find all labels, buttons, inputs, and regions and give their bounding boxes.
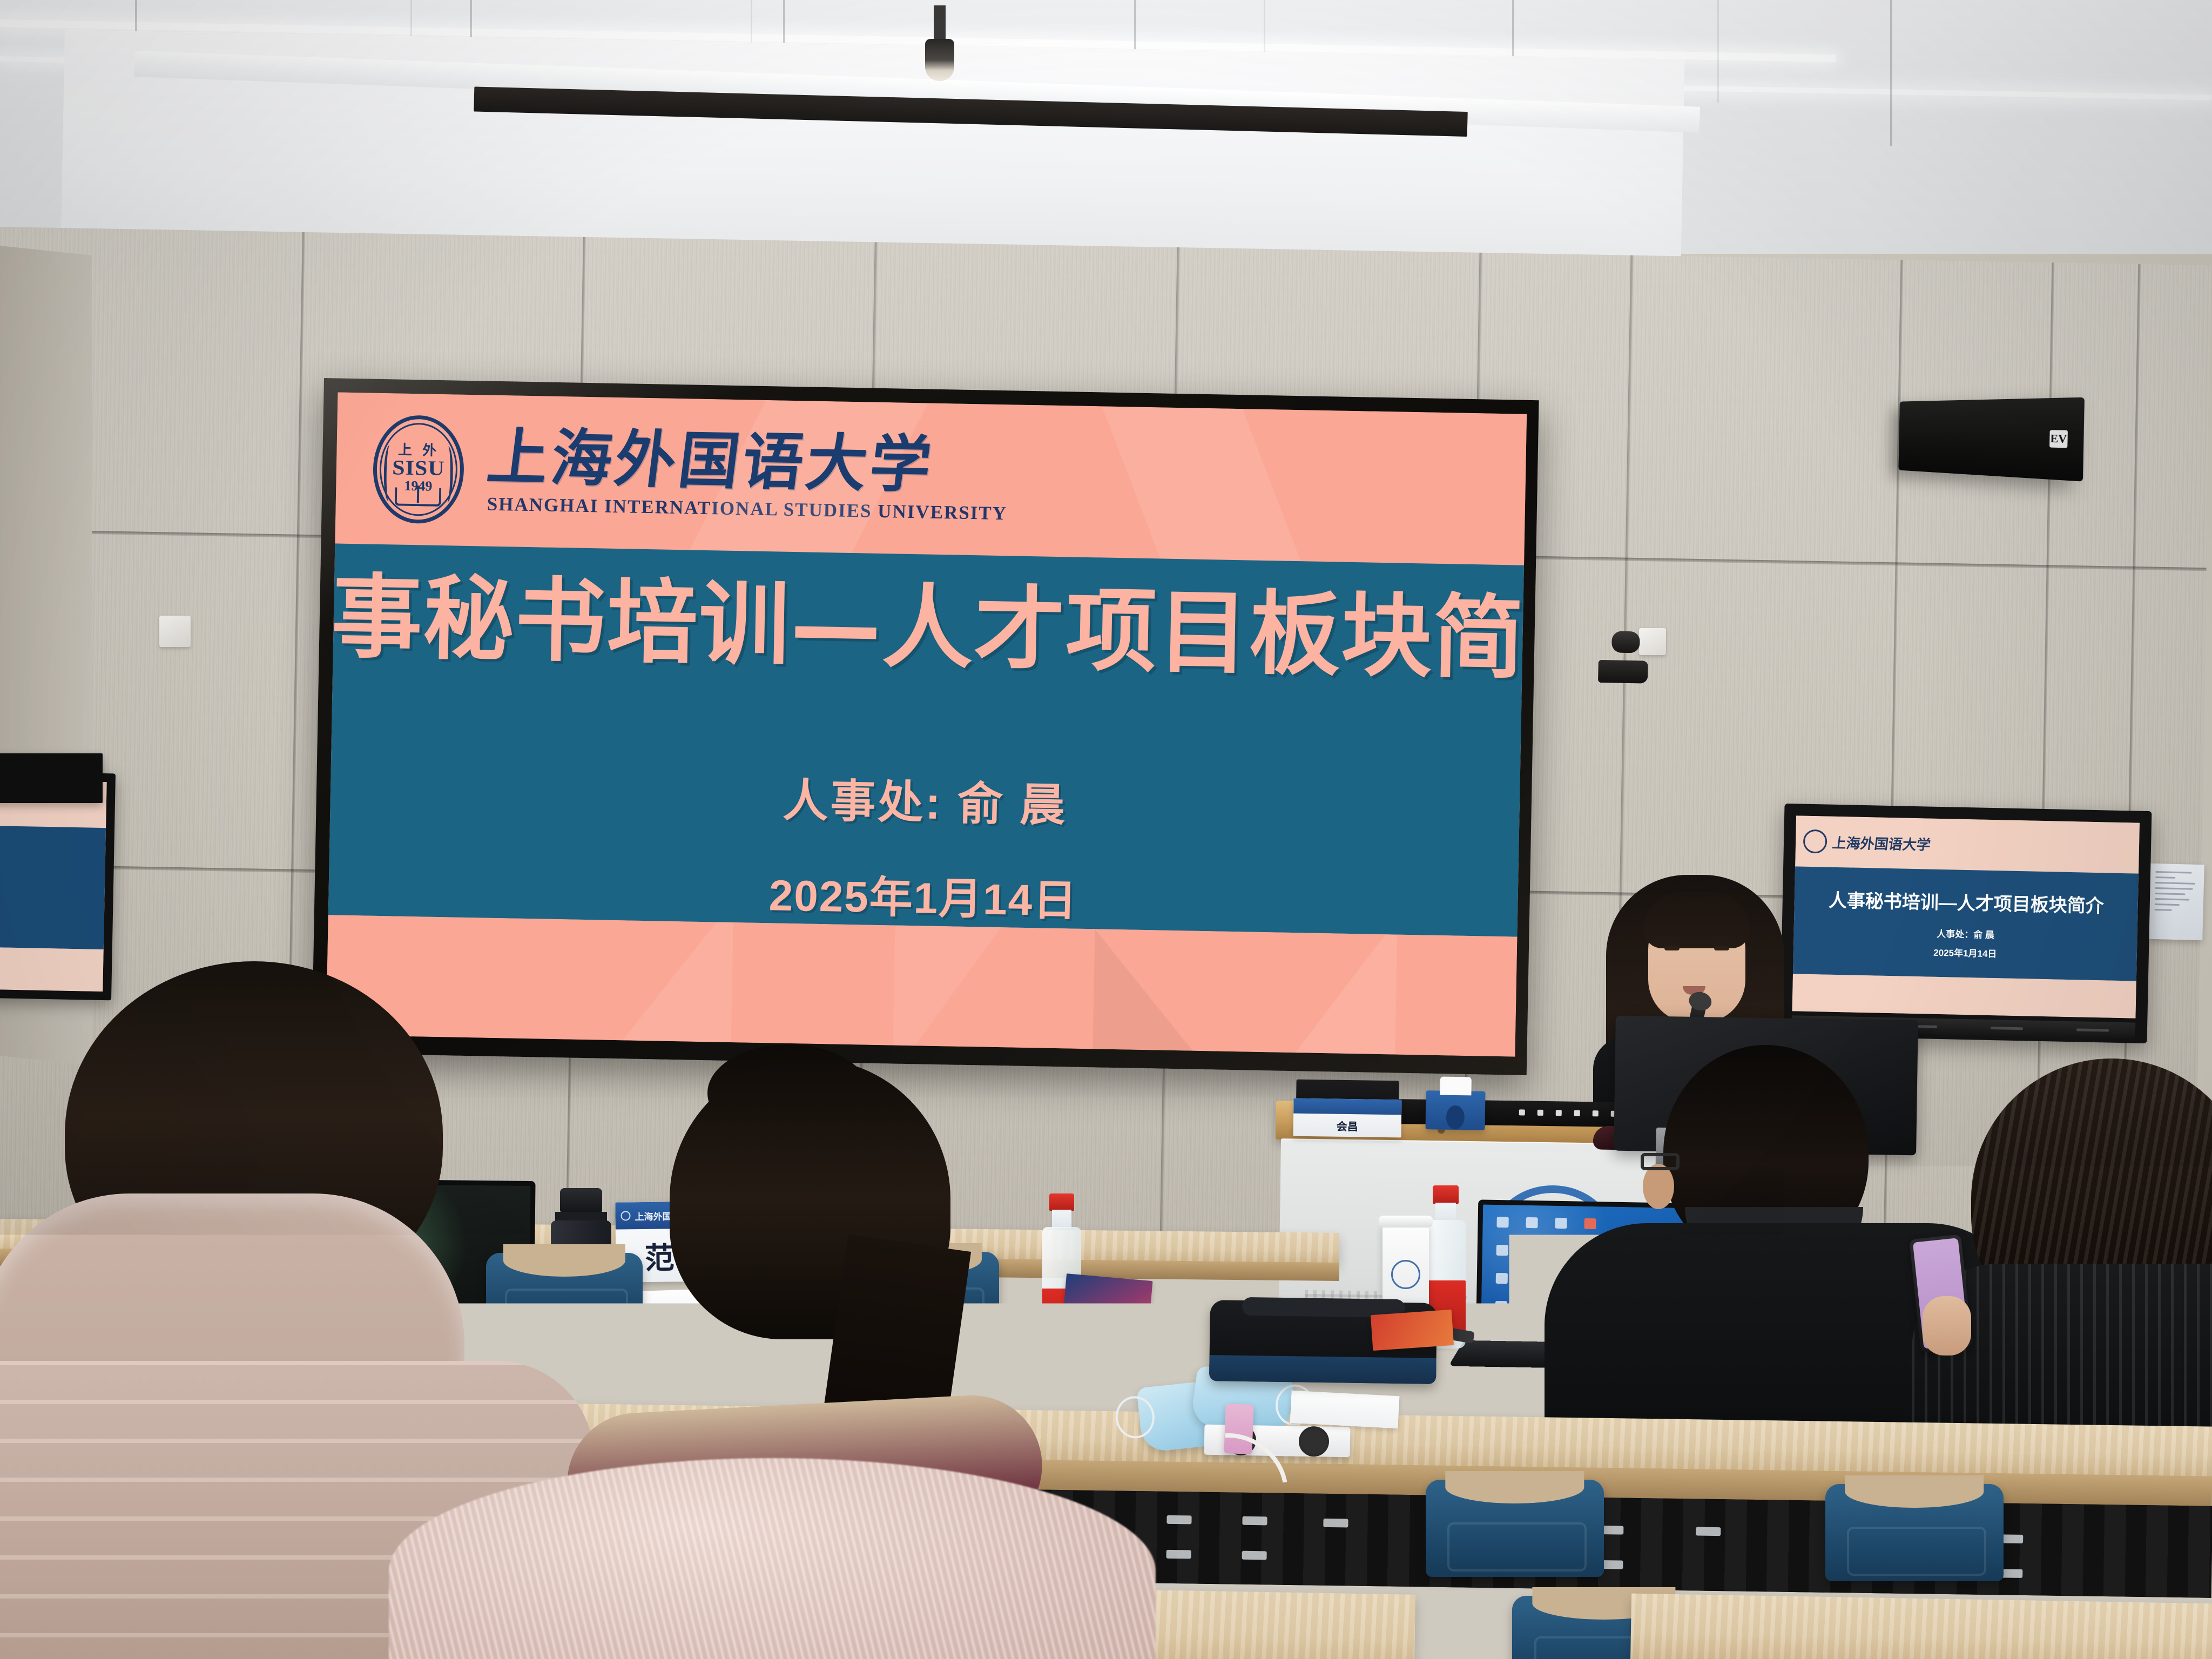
- side-slide-date: 2025年1月14日: [1933, 945, 1997, 960]
- wall-switch-plate[interactable]: [159, 616, 191, 647]
- paper-sheet: [1290, 1391, 1400, 1428]
- lecture-hall-photo: EV 上 外 SISU: [0, 0, 2212, 1659]
- presentation-slide: 上 外 SISU 1949 上海外国语大学 SHANGHAI INTERNATI…: [326, 392, 1527, 1056]
- podium-file-card: 会昌: [1293, 1098, 1402, 1138]
- chair-front-2[interactable]: [1825, 1484, 2004, 1581]
- side-brand-name: 上海外国语大学: [1831, 832, 1932, 854]
- audience-person-front-center: [454, 1058, 1156, 1659]
- side-display-slide: 上海外国语大学 人事秘书培训—人才项目板块简介 人事处：俞 晨 2025年1月1…: [1792, 815, 2140, 1018]
- desk-row-nearest-right: [1630, 1594, 2212, 1659]
- sisu-emblem-icon: 上 外 SISU 1949: [372, 414, 465, 524]
- ceiling: [0, 0, 2212, 254]
- audience-person-far-right-phone: [1928, 1058, 2212, 1426]
- person-hand: [1923, 1296, 1971, 1355]
- wall-speaker: EV: [1898, 397, 2085, 482]
- side-slide-title: 人事秘书培训—人才项目板块简介: [1828, 886, 2104, 918]
- chair-front-1[interactable]: [1426, 1480, 1604, 1577]
- eyeglasses-icon: [1641, 1153, 1680, 1170]
- side-wall-display: 上海外国语大学 人事秘书培训—人才项目板块简介 人事处：俞 晨 2025年1月1…: [1780, 804, 2152, 1043]
- slide-header-band: 上 外 SISU 1949 上海外国语大学 SHANGHAI INTERNATI…: [335, 392, 1527, 565]
- side-slide-body: 人事秘书培训—人才项目板块简介 人事处：俞 晨 2025年1月14日: [1793, 866, 2139, 981]
- slide-body: 人事秘书培训—人才项目板块简介 人事处: 俞 晨 2025年1月14日: [328, 543, 1524, 936]
- left-display-bezel: [0, 753, 103, 803]
- brand-name-chinese: 上海外国语大学: [484, 426, 1012, 498]
- wall-notice-paper: [2148, 864, 2204, 941]
- tissue-box: [1426, 1090, 1486, 1130]
- side-slide-presenter: 人事处：俞 晨: [1937, 926, 1994, 941]
- slide-date-line: 2025年1月14日: [768, 860, 1078, 928]
- slide-presenter-line: 人事处: 俞 晨: [783, 764, 1068, 834]
- side-slide-footer: [1792, 974, 2136, 1019]
- ceiling-hanger: [1890, 0, 1892, 146]
- ceiling-projector: [921, 5, 959, 86]
- sisu-emblem-icon-small: [1803, 829, 1827, 854]
- side-display-frame: 上海外国语大学 人事秘书培训—人才项目板块简介 人事处：俞 晨 2025年1月1…: [1780, 804, 2152, 1043]
- side-slide-header: 上海外国语大学: [1795, 815, 2140, 873]
- orange-folder: [1371, 1310, 1454, 1351]
- person-torso-fur-coat: [346, 1599, 1264, 1659]
- speaker-brand-label: EV: [2049, 430, 2068, 448]
- ptz-camera-icon: [1598, 629, 1658, 684]
- slide-title: 人事秘书培训—人才项目板块简介: [326, 542, 1527, 698]
- ceiling-panel-seam: [1717, 0, 1719, 103]
- presenter-fringe: [1644, 892, 1750, 948]
